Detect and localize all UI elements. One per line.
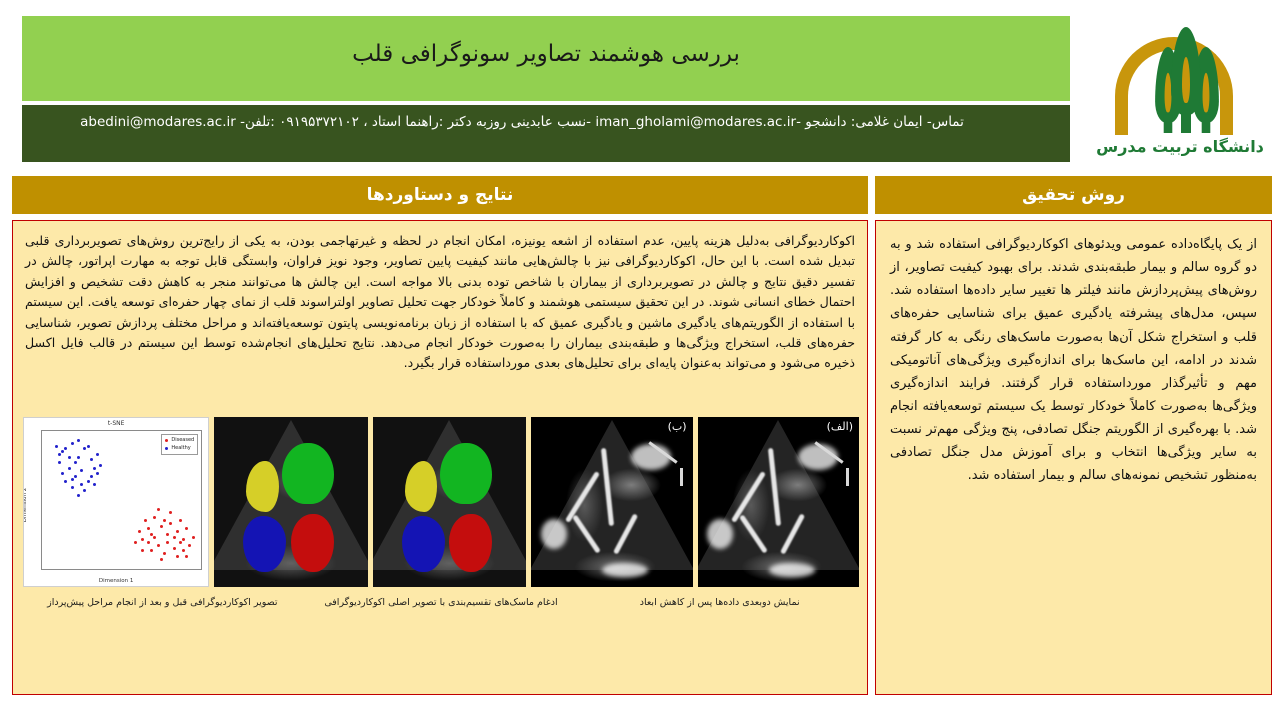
scatter-point — [144, 519, 147, 522]
figure-strip: (الف) (ب) — [23, 417, 859, 587]
figure-caption-tsne: نمایش دوبعدی داده‌ها پس از کاهش ابعاد — [580, 597, 859, 608]
scatter-point — [71, 478, 74, 481]
scatter-point — [176, 555, 179, 558]
ultrasound-cone-image — [214, 417, 367, 587]
scatter-point — [188, 544, 191, 547]
ultrasound-cone-image — [698, 417, 859, 587]
mask-left-ventricle — [440, 443, 492, 504]
chart-yaxis-label: Dimension 2 — [23, 488, 28, 522]
figure-segmentation-overlay-a — [373, 417, 526, 587]
scatter-point — [166, 541, 169, 544]
legend-item-diseased: Diseased — [165, 437, 194, 445]
scatter-point — [55, 445, 58, 448]
university-logo: دانشگاه تربیت مدرس — [1090, 6, 1270, 166]
scatter-point — [185, 527, 188, 530]
figure-echo-original-b: (ب) — [531, 417, 692, 587]
figure-caption-preprocess: تصویر اکوکاردیوگرافی قبل و بعد از انجام … — [23, 597, 302, 608]
scatter-point — [77, 439, 80, 442]
scatter-point — [173, 536, 176, 539]
scatter-point — [166, 533, 169, 536]
section-header-results-label: نتایج و دستاوردها — [367, 185, 514, 205]
scatter-point — [169, 511, 172, 514]
scatter-point — [147, 541, 150, 544]
scatter-point — [87, 445, 90, 448]
scatter-point — [96, 453, 99, 456]
ultrasound-cone-image — [531, 417, 692, 587]
ultrasound-cone-image — [373, 417, 526, 587]
scatter-point — [182, 549, 185, 552]
scatter-point — [83, 447, 86, 450]
scatter-point — [93, 483, 96, 486]
scatter-point — [192, 536, 195, 539]
section-header-method-label: روش تحقیق — [1022, 185, 1125, 205]
scatter-point — [58, 453, 61, 456]
scatter-point — [153, 516, 156, 519]
legend-label-healthy: Healthy — [171, 445, 190, 453]
scatter-point — [176, 530, 179, 533]
scatter-point — [141, 538, 144, 541]
scatter-point — [169, 522, 172, 525]
contact-band: تماس- ایمان غلامی: دانشجو -iman_gholami@… — [22, 105, 1070, 162]
figure-captions: نمایش دوبعدی داده‌ها پس از کاهش ابعاد اد… — [23, 597, 859, 608]
scatter-point — [61, 472, 64, 475]
scatter-point — [153, 536, 156, 539]
logo-caption: دانشگاه تربیت مدرس — [1096, 137, 1264, 156]
mask-left-atrium — [291, 514, 334, 572]
figure-label-alef: (الف) — [827, 420, 853, 433]
scatter-point — [74, 461, 77, 464]
mask-right-ventricle — [405, 461, 437, 512]
poster-root: بررسی هوشمند تصاویر سونوگرافی قلب تماس- … — [0, 0, 1280, 720]
contact-text: تماس- ایمان غلامی: دانشجو -iman_gholami@… — [22, 114, 1052, 130]
scatter-point — [58, 461, 61, 464]
scatter-point — [182, 538, 185, 541]
scatter-point — [64, 447, 67, 450]
logo-mark-icon — [1105, 17, 1255, 135]
chart-legend: Diseased Healthy — [161, 434, 198, 455]
scatter-point — [61, 450, 64, 453]
scatter-point — [173, 547, 176, 550]
scatter-point — [64, 480, 67, 483]
mask-right-ventricle — [246, 461, 278, 512]
figure-label-be: (ب) — [668, 420, 687, 433]
legend-item-healthy: Healthy — [165, 445, 194, 453]
figure-segmentation-overlay-b — [214, 417, 367, 587]
scatter-point — [157, 508, 160, 511]
scatter-point — [163, 552, 166, 555]
scatter-point — [99, 464, 102, 467]
scatter-point — [77, 494, 80, 497]
section-header-method: روش تحقیق — [875, 176, 1272, 214]
figure-echo-original-a: (الف) — [698, 417, 859, 587]
mask-right-atrium — [402, 516, 445, 572]
scatter-point — [83, 489, 86, 492]
title-band: بررسی هوشمند تصاویر سونوگرافی قلب — [22, 16, 1070, 101]
chart-plot-area: Diseased Healthy — [41, 430, 202, 570]
results-body-text: اکوکاردیوگرافی به‌دلیل هزینه پایین، عدم … — [13, 221, 867, 374]
panel-method: از یک پایگاه‌داده عمومی ویدئوهای اکوکارد… — [875, 220, 1272, 695]
figure-tsne-scatter: t-SNE Diseased Healthy Dimension 1 — [23, 417, 209, 587]
scatter-point — [163, 519, 166, 522]
scatter-point — [147, 527, 150, 530]
scatter-point — [160, 525, 163, 528]
scatter-point — [80, 483, 83, 486]
scatter-point — [90, 458, 93, 461]
scatter-point — [74, 475, 77, 478]
scatter-point — [77, 456, 80, 459]
scatter-point — [141, 549, 144, 552]
scatter-point — [71, 442, 74, 445]
scatter-point — [185, 555, 188, 558]
mask-left-atrium — [449, 514, 492, 572]
scatter-point — [68, 467, 71, 470]
mask-left-ventricle — [282, 443, 334, 504]
chart-xaxis-label: Dimension 1 — [24, 578, 208, 584]
scatter-point — [138, 530, 141, 533]
scatter-point — [179, 541, 182, 544]
mask-right-atrium — [243, 516, 286, 572]
scatter-point — [93, 467, 96, 470]
section-header-results: نتایج و دستاوردها — [12, 176, 868, 214]
poster-title: بررسی هوشمند تصاویر سونوگرافی قلب — [352, 41, 740, 77]
legend-label-diseased: Diseased — [171, 437, 194, 445]
method-body-text: از یک پایگاه‌داده عمومی ویدئوهای اکوکارد… — [876, 221, 1271, 487]
scatter-point — [96, 472, 99, 475]
figure-caption-segmentation: ادغام ماسک‌های تقسیم‌بندی با تصویر اصلی … — [302, 597, 581, 608]
scatter-point — [71, 486, 74, 489]
scatter-point — [157, 544, 160, 547]
scatter-point — [134, 541, 137, 544]
scatter-point — [87, 480, 90, 483]
scatter-point — [68, 456, 71, 459]
scatter-point — [90, 475, 93, 478]
scatter-point — [179, 519, 182, 522]
scatter-point — [160, 558, 163, 561]
scatter-point — [80, 469, 83, 472]
cypress-tree-icon — [1171, 27, 1201, 133]
chart-title: t-SNE — [24, 420, 208, 427]
scatter-point — [150, 549, 153, 552]
panel-results: اکوکاردیوگرافی به‌دلیل هزینه پایین، عدم … — [12, 220, 868, 695]
